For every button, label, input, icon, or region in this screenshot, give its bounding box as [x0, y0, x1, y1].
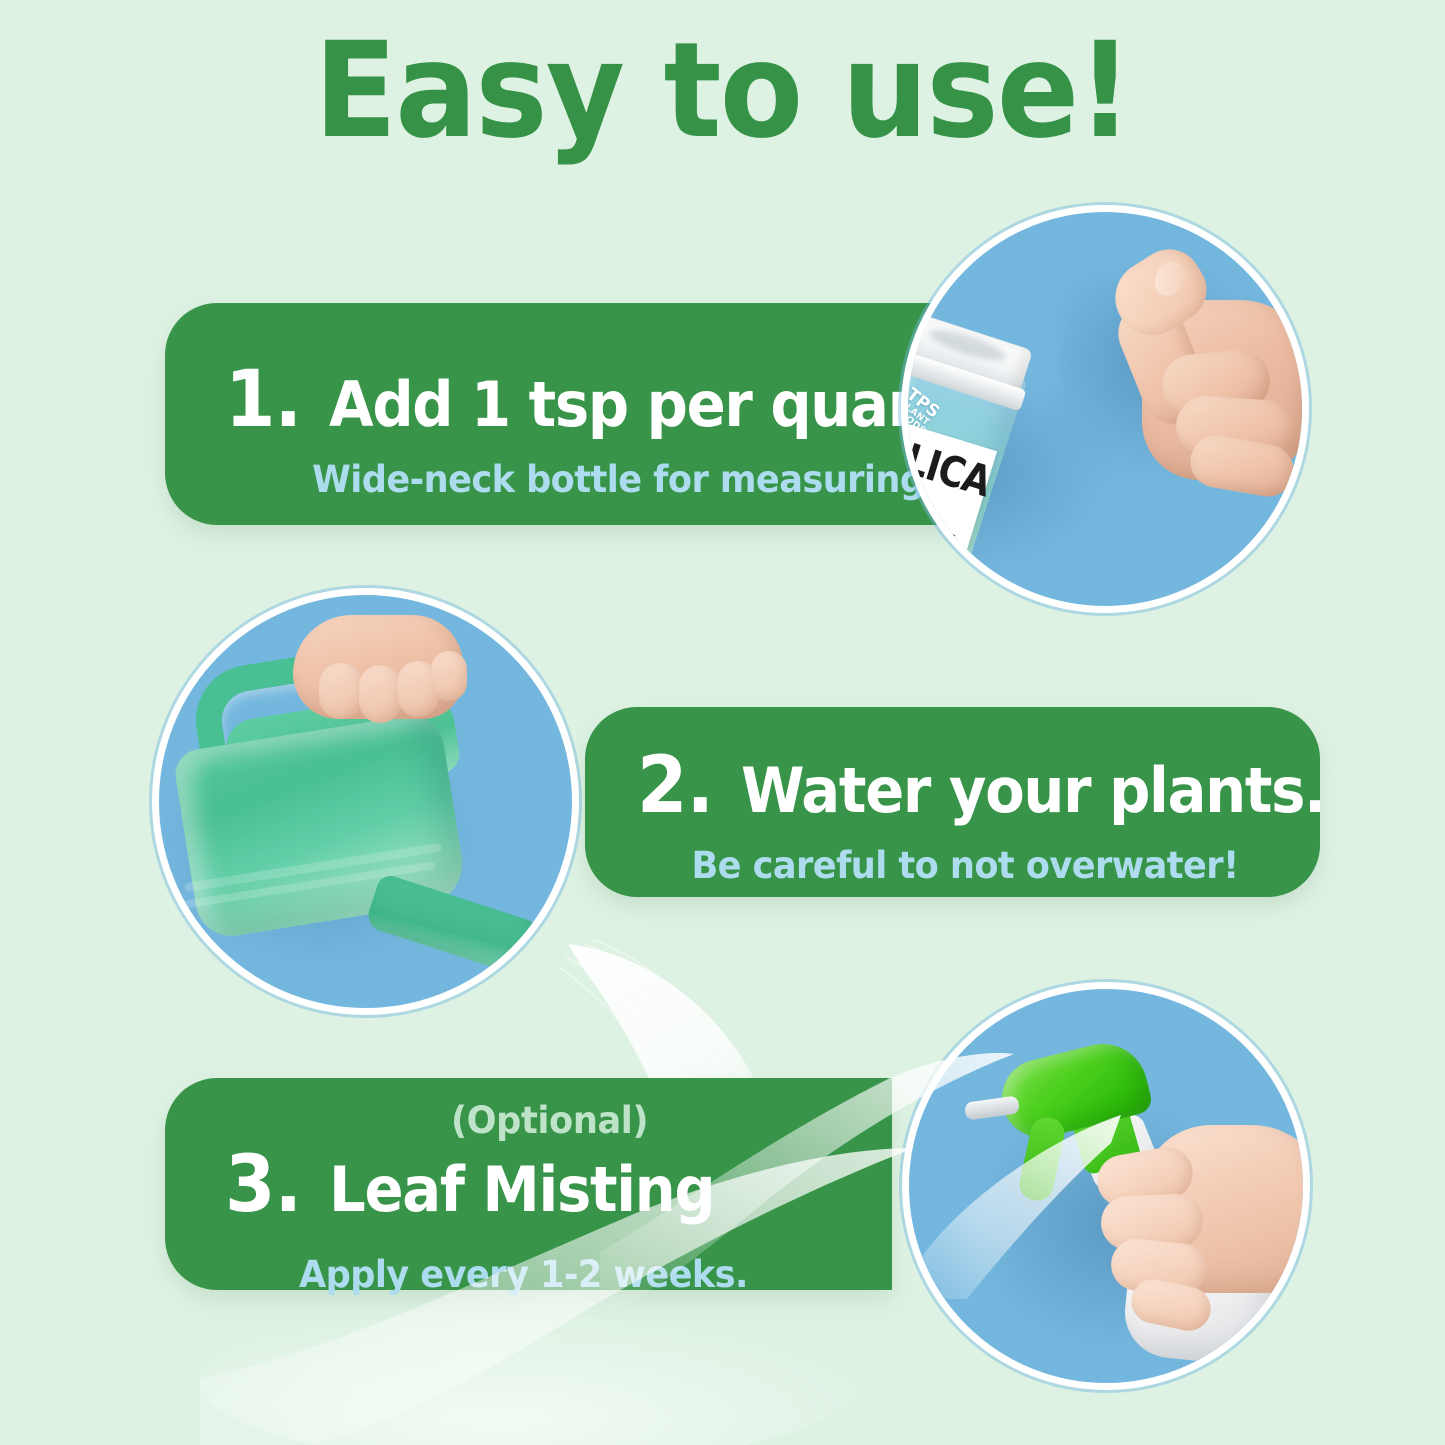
hand-finger: [319, 663, 363, 719]
photo-bottle-and-spoon: TPS PLANT FOODS SILICA FOR PLANTS: [908, 212, 1302, 606]
step-card-3: (Optional) 3. Leaf Misting Apply every 1…: [165, 1078, 892, 1290]
hand-holding-spoon: [1104, 248, 1309, 498]
step-3-photo-circle: [902, 982, 1310, 1390]
step-3-headline: Leaf Misting: [329, 1159, 714, 1221]
watering-can-spout: [364, 872, 547, 979]
step-card-1: 1. Add 1 tsp per quart. Wide-neck bottle…: [165, 303, 1025, 525]
step-1-heading-row: 1. Add 1 tsp per quart.: [225, 361, 1009, 439]
step-3-optional-label: (Optional): [451, 1102, 648, 1139]
mist-inside-circle: [903, 1109, 1143, 1299]
page-title: Easy to use!: [58, 24, 1387, 159]
step-3-number: 3.: [225, 1146, 301, 1224]
step-3-heading-row: 3. Leaf Misting: [225, 1146, 743, 1224]
step-2-subtitle: Be careful to not overwater!: [642, 847, 1288, 884]
step-1-number: 1.: [225, 361, 301, 439]
hand-holding-can: [271, 605, 481, 745]
step-3-subtitle: Apply every 1-2 weeks.: [299, 1256, 831, 1293]
photo-spray-bottle: [909, 989, 1303, 1383]
step-1-headline: Add 1 tsp per quart.: [329, 374, 962, 436]
thumb-nail: [1149, 256, 1191, 301]
step-2-photo-circle: [152, 588, 579, 1015]
hand-finger: [359, 665, 401, 723]
step-2-headline: Water your plants.: [741, 760, 1325, 822]
step-1-subtitle: Wide-neck bottle for measuring!: [241, 461, 1011, 498]
step-card-2: 2. Water your plants. Be careful to not …: [585, 707, 1320, 897]
step-1-photo-circle: TPS PLANT FOODS SILICA FOR PLANTS: [901, 205, 1309, 613]
photo-watering-can: [159, 595, 572, 1008]
infographic-canvas: Easy to use! 1. Add 1 tsp per quart. Wid…: [0, 0, 1445, 1445]
step-2-heading-row: 2. Water your plants.: [637, 747, 1369, 825]
silica-bottle: TPS PLANT FOODS SILICA FOR PLANTS: [901, 312, 1037, 613]
hand-finger: [431, 651, 467, 701]
step-2-number: 2.: [637, 747, 713, 825]
